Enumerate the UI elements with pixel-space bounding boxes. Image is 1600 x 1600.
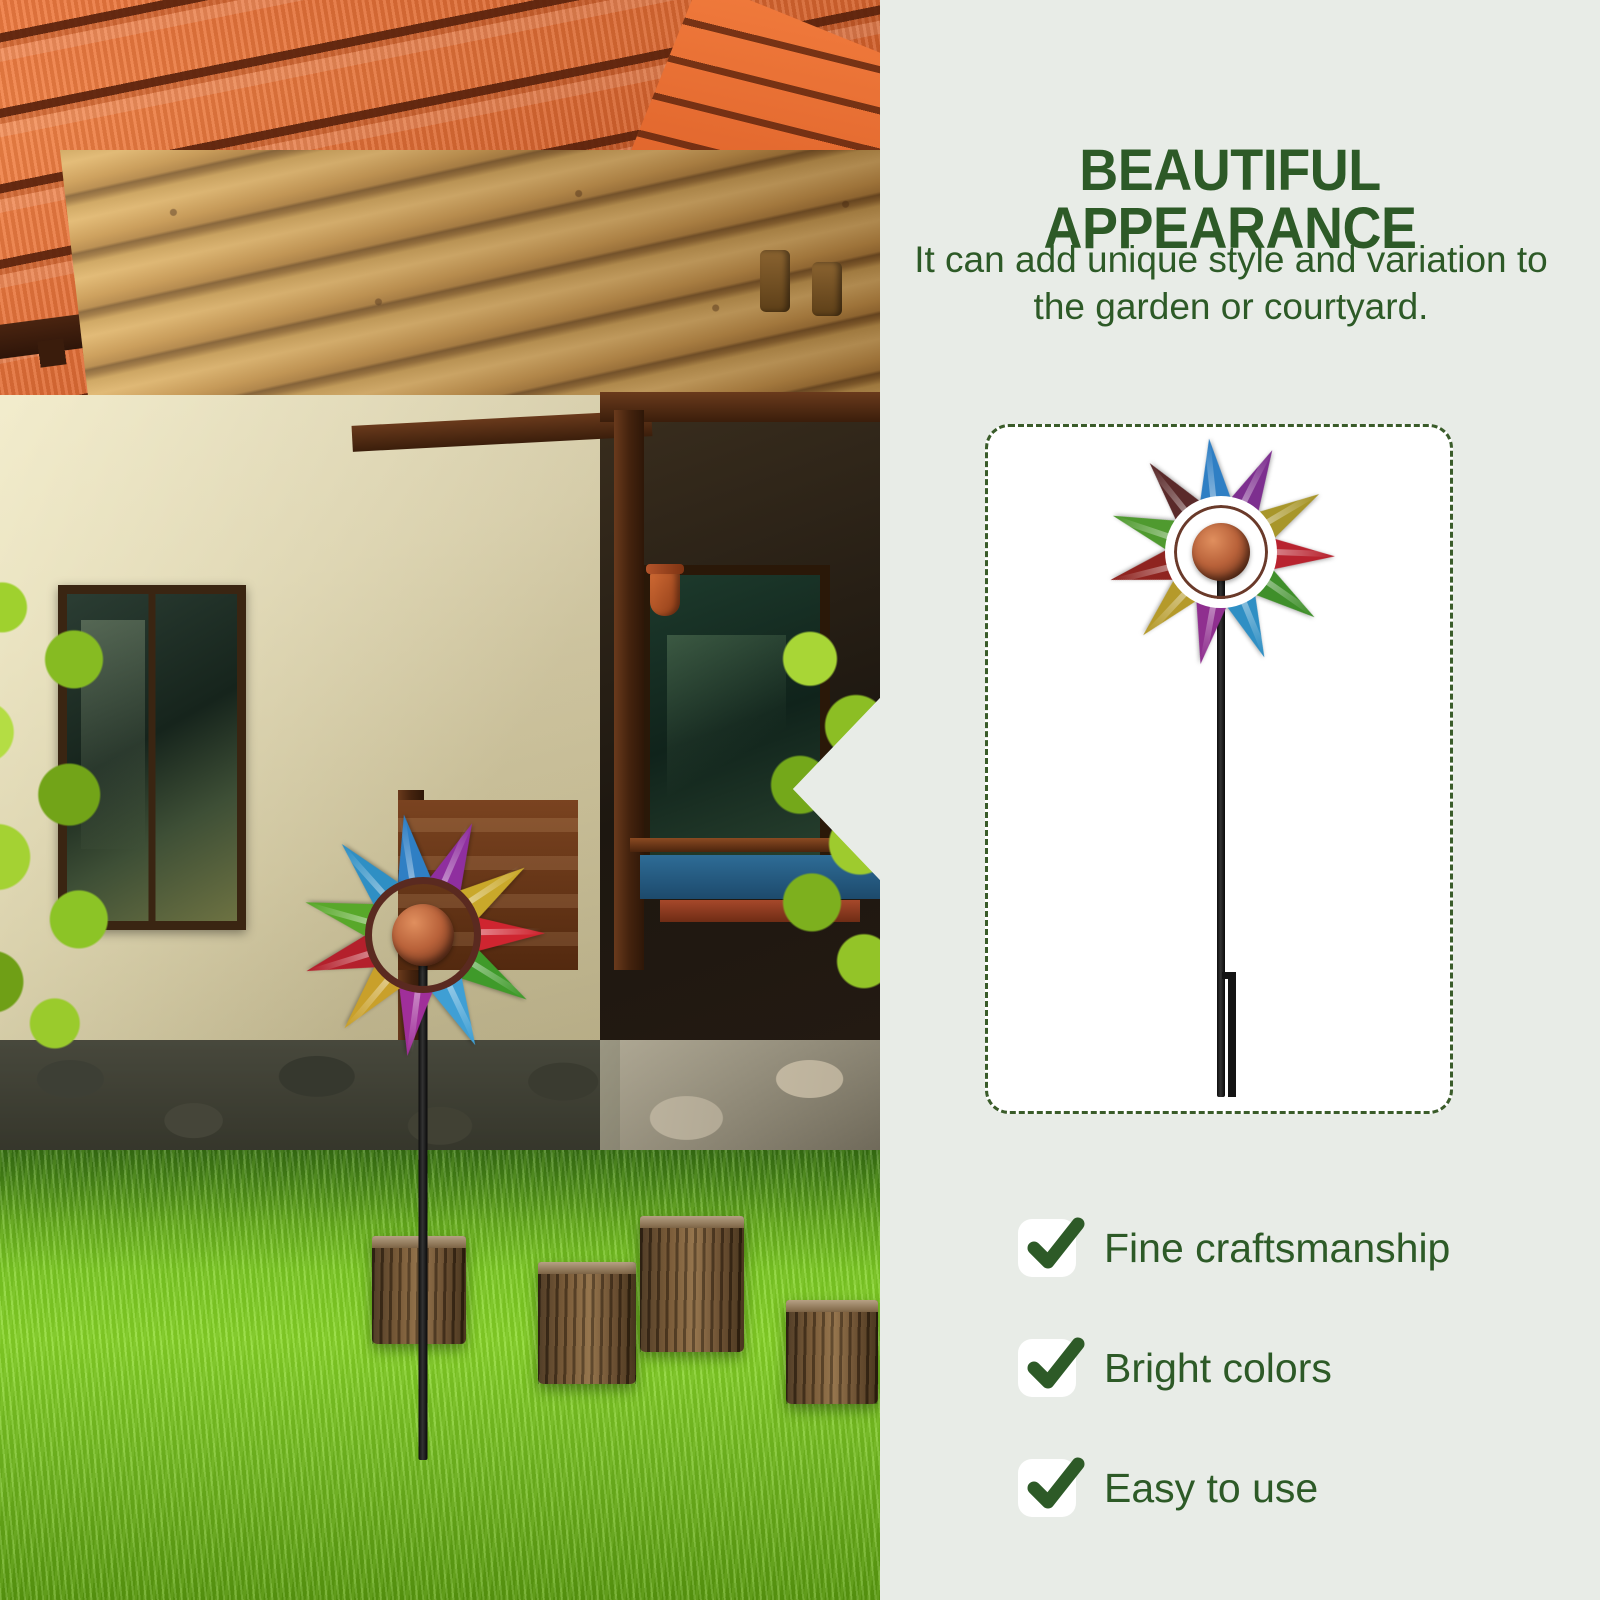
chevron-wedge-accent — [793, 697, 881, 881]
ground-spike-prong — [1228, 972, 1236, 1097]
feature-label: Bright colors — [1104, 1345, 1332, 1392]
feature-item: Easy to use — [1018, 1452, 1578, 1524]
product-spinner-hub — [1192, 523, 1250, 581]
product-card — [985, 424, 1453, 1114]
log-end — [760, 250, 790, 312]
garden-lifestyle-photo — [0, 0, 880, 1600]
feature-label: Easy to use — [1104, 1465, 1318, 1512]
feature-item: Bright colors — [1018, 1332, 1578, 1404]
page-subtitle: It can add unique style and variation to… — [895, 236, 1567, 331]
tree-stump — [786, 1300, 878, 1404]
tree-stump — [538, 1262, 636, 1384]
product-wind-spinner — [1106, 437, 1336, 667]
spinner-hub — [392, 904, 454, 966]
ground-spike-crossbar — [1222, 972, 1236, 979]
log-end — [812, 262, 842, 316]
tree-stump — [640, 1216, 744, 1352]
product-marketing-image: BEAUTIFUL APPEARANCE It can add unique s… — [0, 0, 1600, 1600]
garden-wind-spinner — [300, 812, 546, 1058]
grass-texture — [0, 1150, 880, 1600]
feature-item: Fine craftsmanship — [1018, 1212, 1578, 1284]
feature-label: Fine craftsmanship — [1104, 1225, 1450, 1272]
feature-list: Fine craftsmanship Bright colors Easy to… — [1018, 1212, 1578, 1572]
hanging-terracotta-pot — [650, 570, 680, 616]
check-icon — [1018, 1219, 1076, 1277]
check-icon — [1018, 1339, 1076, 1397]
leafy-tree — [0, 545, 170, 1065]
check-icon — [1018, 1459, 1076, 1517]
